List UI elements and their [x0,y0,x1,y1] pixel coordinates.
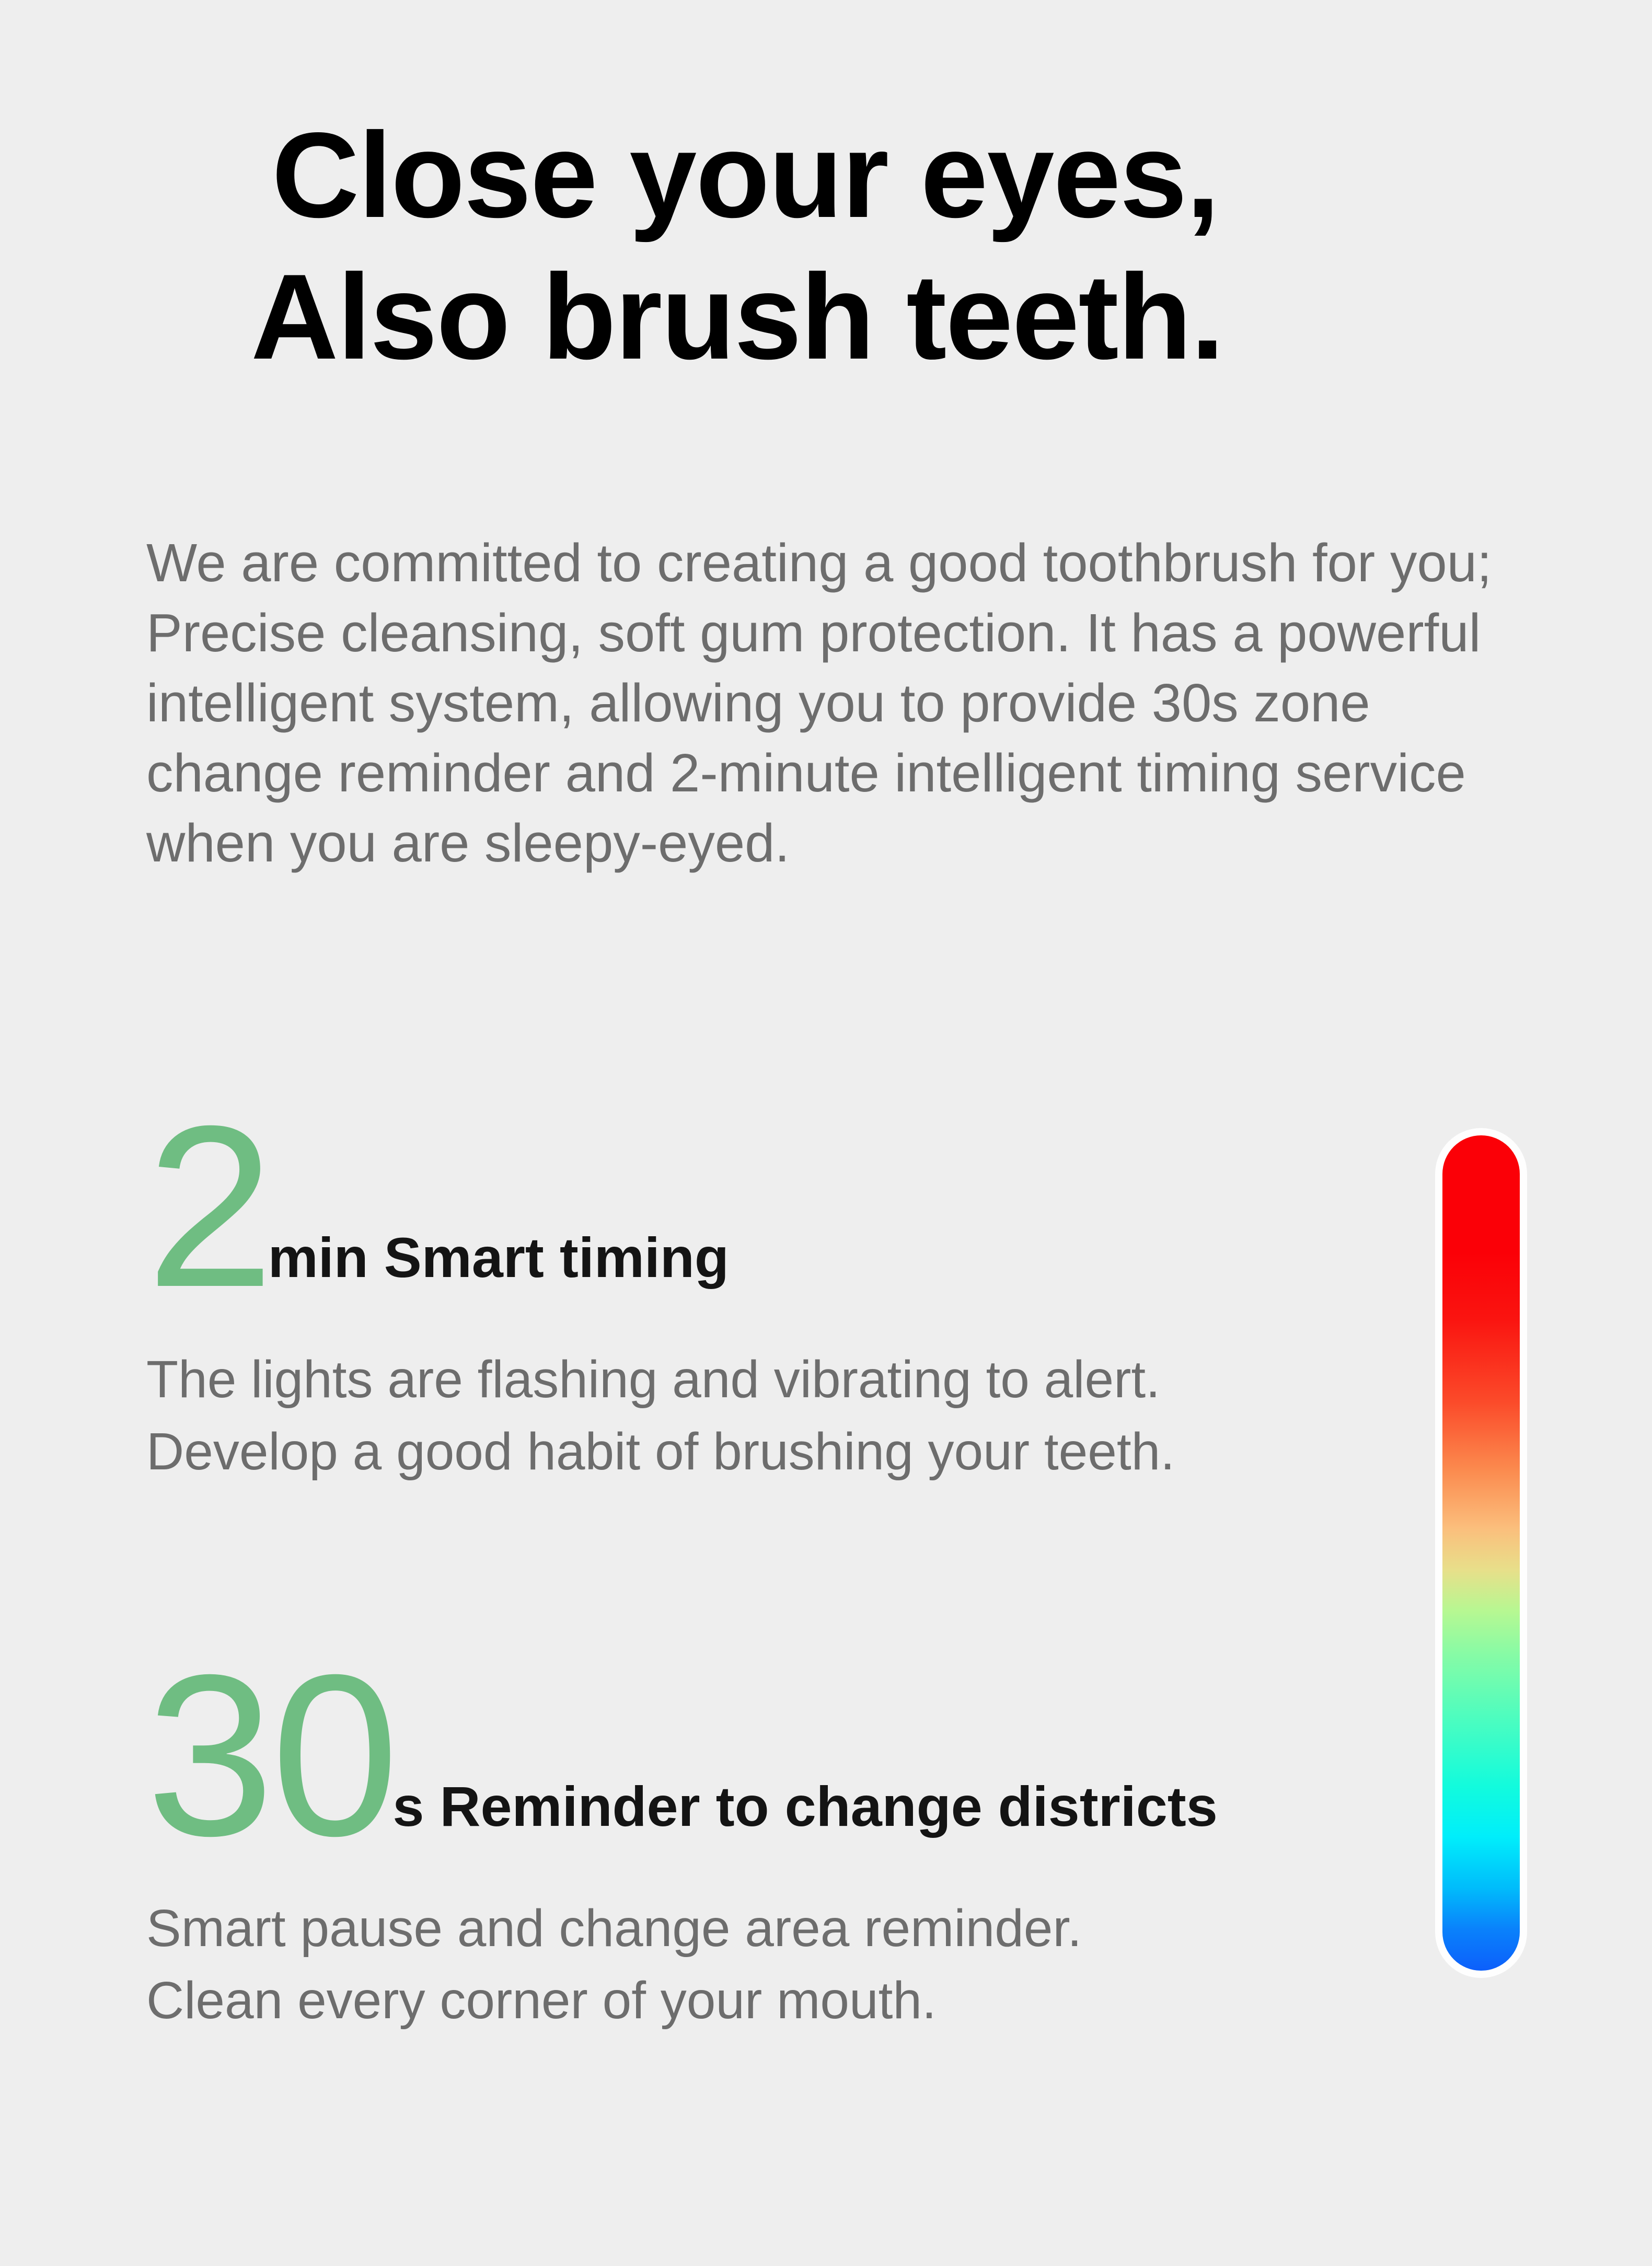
intro-line-1: We are committed to creating a good toot… [146,528,1463,598]
feature-stat-number: 30 [146,1657,396,1855]
feature-description-line-1: Smart pause and change area reminder. [146,1892,1427,1964]
feature-description-line-2: Develop a good habit of brushing your te… [146,1416,1427,1488]
feature-stat-row: 30 s Reminder to change districts [146,1657,1427,1855]
hero-line-2: Also brush teeth. [251,246,1578,388]
product-feature-page: Close your eyes, Also brush teeth. We ar… [0,0,1652,2266]
feature-description: Smart pause and change area reminder. Cl… [146,1892,1427,2037]
hero-heading: Close your eyes, Also brush teeth. [272,105,1578,388]
intro-line-4: change reminder and 2-minute intelligent… [146,738,1463,808]
feature-smart-timing: 2 min Smart timing The lights are flashi… [146,1108,1427,1488]
feature-zone-reminder: 30 s Reminder to change districts Smart … [146,1657,1427,2037]
intro-paragraph: We are committed to creating a good toot… [146,528,1463,878]
feature-stat-row: 2 min Smart timing [146,1108,1427,1306]
feature-description-line-2: Clean every corner of your mouth. [146,1964,1427,2037]
rgb-light-indicator-icon [1442,1135,1520,1971]
feature-description: The lights are flashing and vibrating to… [146,1343,1427,1488]
intro-line-3: intelligent system, allowing you to prov… [146,668,1463,738]
hero-line-1: Close your eyes, [272,105,1578,246]
feature-stat-unit: min Smart timing [268,1229,729,1306]
feature-stat-unit: s Reminder to change districts [392,1778,1217,1855]
feature-description-line-1: The lights are flashing and vibrating to… [146,1343,1427,1416]
feature-stat-number: 2 [146,1108,271,1306]
intro-line-5: when you are sleepy-eyed. [146,808,1463,878]
intro-line-2: Precise cleansing, soft gum protection. … [146,598,1463,668]
